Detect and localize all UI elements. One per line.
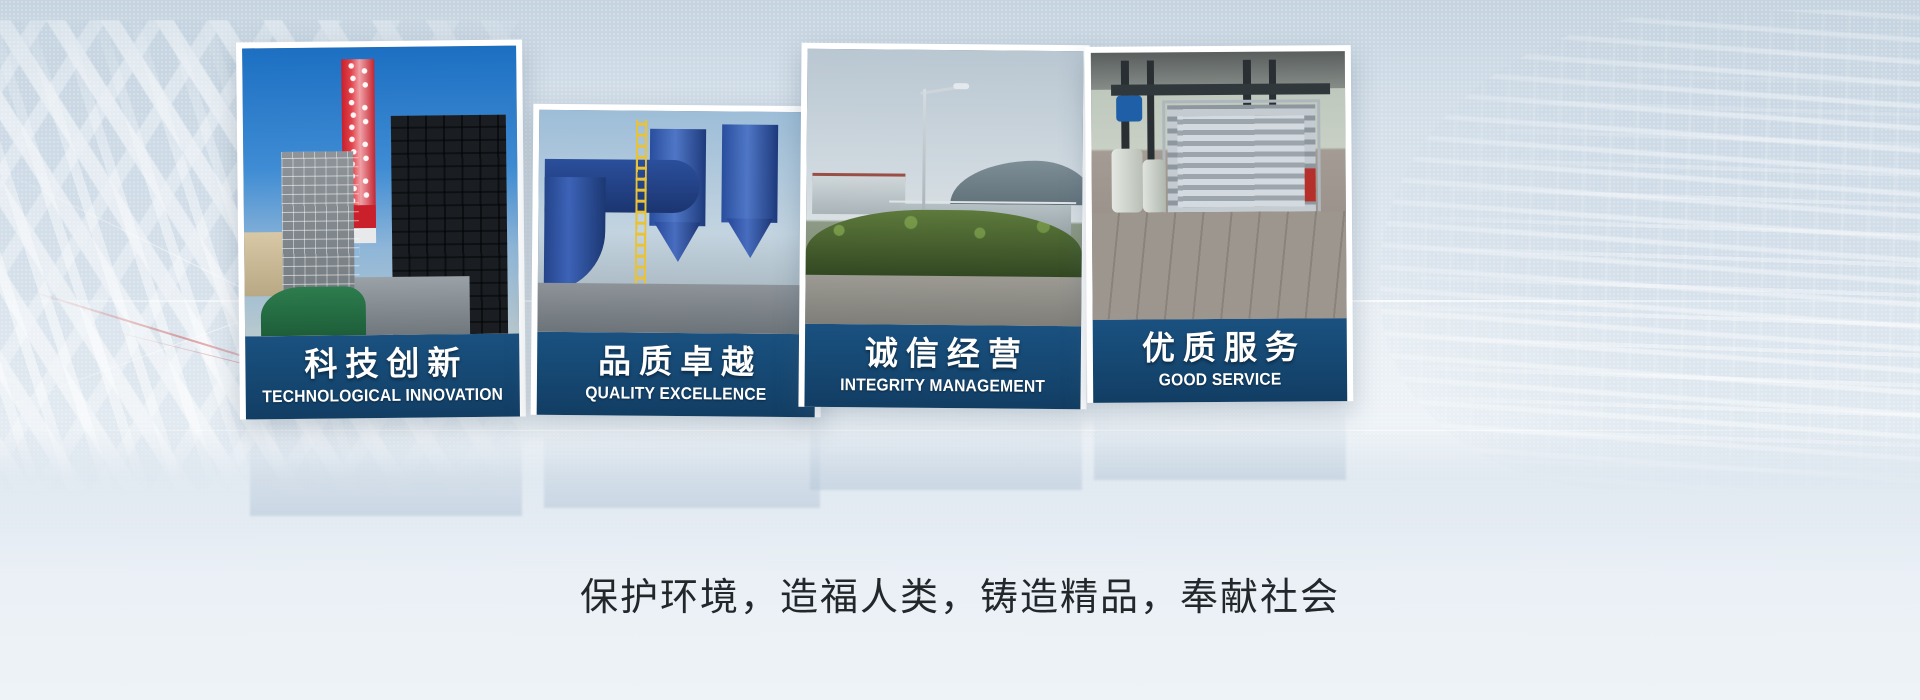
card-title-en: GOOD SERVICE [1107,368,1333,391]
card-photo-quality-excellence [537,110,817,334]
scene-industrial-smokestack [242,46,519,337]
banner-tagline: 保护环境，造福人类，铸造精品，奉献社会 [0,566,1920,621]
feature-card-quality-excellence[interactable]: 品质卓越 QUALITY EXCELLENCE [531,104,824,418]
card-title-cn: 优质服务 [1097,328,1343,369]
corporate-culture-banner: 科技创新 TECHNOLOGICAL INNOVATION 品质卓越 [0,0,1920,700]
scene-wastewater-treatment-plant [805,49,1083,326]
card-title-cn: 科技创新 [249,344,515,386]
card-title-en: TECHNOLOGICAL INNOVATION [260,384,505,408]
card-title-en: QUALITY EXCELLENCE [552,382,801,405]
card-caption-quality-excellence: 品质卓越 QUALITY EXCELLENCE [537,332,816,418]
scene-blue-ductwork-cyclones [537,110,817,334]
card-title-cn: 品质卓越 [541,342,811,383]
card-photo-integrity-management [805,49,1083,326]
feature-card-integrity-management[interactable]: 诚信经营 INTEGRITY MANAGEMENT [798,43,1089,410]
card-caption-good-service: 优质服务 GOOD SERVICE [1093,318,1348,403]
card-reflection-2 [544,432,820,508]
card-reflection-3 [810,416,1082,490]
card-caption-technological-innovation: 科技创新 TECHNOLOGICAL INNOVATION [245,334,520,420]
card-photo-technological-innovation [242,46,519,337]
card-caption-integrity-management: 诚信经营 INTEGRITY MANAGEMENT [804,324,1081,410]
feature-card-technological-innovation[interactable]: 科技创新 TECHNOLOGICAL INNOVATION [236,40,526,420]
card-reflection-4 [1094,410,1346,480]
scene-ro-membrane-equipment-room [1091,51,1347,320]
card-reflection-1 [250,438,522,516]
feature-card-group: 科技创新 TECHNOLOGICAL INNOVATION 品质卓越 [0,0,1920,620]
card-title-en: INTEGRITY MANAGEMENT [819,374,1066,397]
card-photo-good-service [1091,51,1347,320]
feature-card-good-service[interactable]: 优质服务 GOOD SERVICE [1085,45,1353,403]
card-title-cn: 诚信经营 [809,334,1077,375]
